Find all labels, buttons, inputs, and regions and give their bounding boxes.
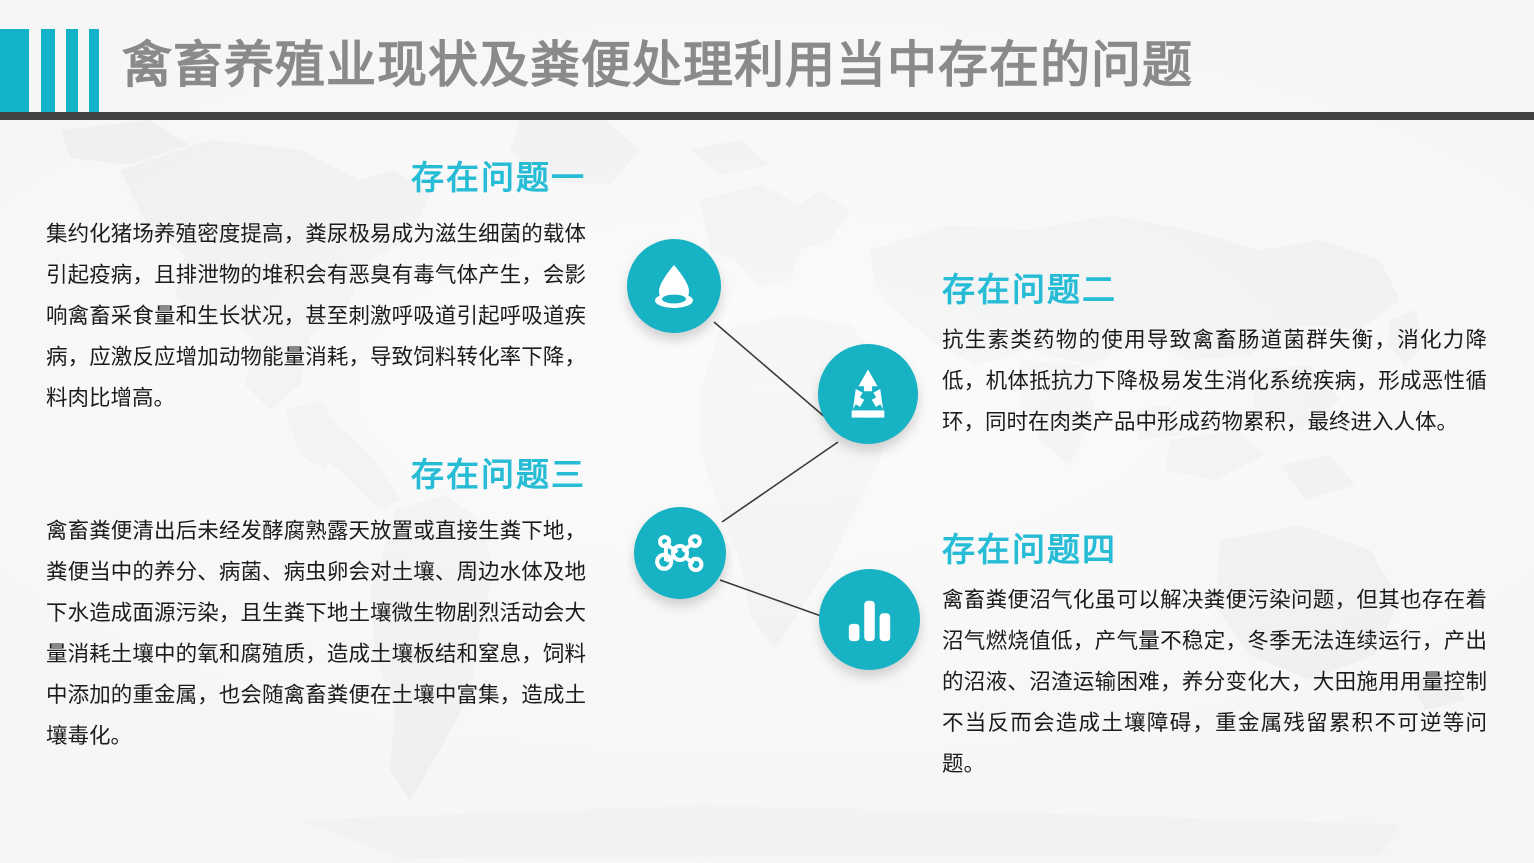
body-problem-four: 禽畜粪便沼气化虽可以解决粪便污染问题，但其也存在着沼气燃烧值低，产气量不稳定，冬… (942, 580, 1487, 785)
body-problem-two: 抗生素类药物的使用导致禽畜肠道菌群失衡，消化力降低，机体抵抗力下降极易发生消化系… (942, 320, 1487, 443)
bar-chart-icon (845, 595, 895, 645)
body-problem-one: 集约化猪场养殖密度提高，粪尿极易成为滋生细菌的载体引起疫病，且排泄物的堆积会有恶… (46, 214, 586, 419)
content-block-problem-four: 存在问题四 禽畜粪便沼气化虽可以解决粪便污染问题，但其也存在着沼气燃烧值低，产气… (942, 530, 1487, 785)
connector-recycle-to-network (722, 442, 838, 522)
accent-bar-1 (0, 29, 29, 112)
accent-bar-4 (89, 29, 99, 112)
content-block-problem-three: 存在问题三 禽畜粪便清出后未经发酵腐熟露天放置或直接生粪下地，粪便当中的养分、病… (46, 455, 586, 757)
accent-bar-2 (41, 29, 55, 112)
body-problem-three: 禽畜粪便清出后未经发酵腐熟露天放置或直接生粪下地，粪便当中的养分、病菌、病虫卵会… (46, 511, 586, 757)
water-drop-icon (646, 258, 702, 314)
recycle-icon (839, 365, 897, 423)
slide-header: 禽畜养殖业现状及粪便处理利用当中存在的问题 (0, 0, 1534, 117)
heading-problem-four: 存在问题四 (942, 530, 1487, 570)
network-icon (651, 526, 709, 580)
heading-problem-one: 存在问题一 (46, 158, 586, 198)
page-title: 禽畜养殖业现状及粪便处理利用当中存在的问题 (122, 32, 1193, 98)
accent-bar-3 (66, 29, 78, 112)
heading-problem-three: 存在问题三 (46, 455, 586, 495)
icon-circle-water-drop[interactable] (627, 239, 721, 333)
content-block-problem-two: 存在问题二 抗生素类药物的使用导致禽畜肠道菌群失衡，消化力降低，机体抵抗力下降极… (942, 270, 1487, 443)
header-divider-rule (0, 112, 1534, 120)
heading-problem-two: 存在问题二 (942, 270, 1487, 310)
icon-circle-network[interactable] (634, 507, 726, 599)
slide-canvas: 禽畜养殖业现状及粪便处理利用当中存在的问题 (0, 0, 1534, 863)
content-block-problem-one: 存在问题一 集约化猪场养殖密度提高，粪尿极易成为滋生细菌的载体引起疫病，且排泄物… (46, 158, 586, 419)
icon-circle-bar-chart[interactable] (819, 569, 920, 670)
icon-circle-recycle[interactable] (818, 344, 918, 444)
